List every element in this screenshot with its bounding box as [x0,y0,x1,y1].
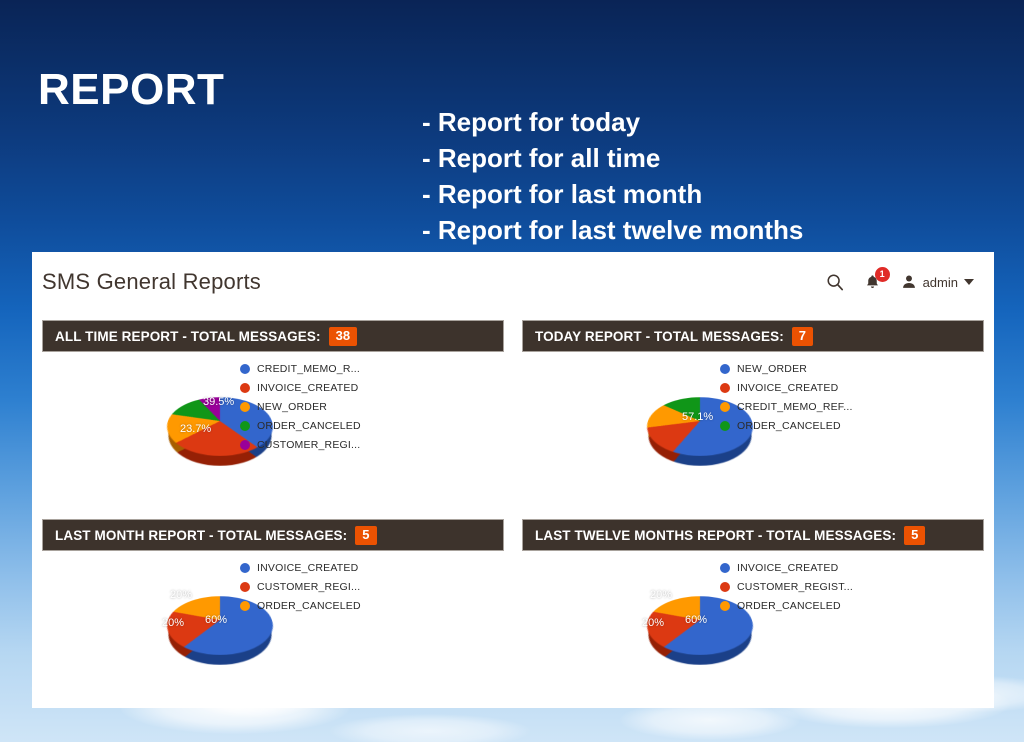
legend-label: CUSTOMER_REGI... [257,439,360,451]
legend-item[interactable]: CREDIT_MEMO_REF... [720,401,853,413]
notification-badge: 1 [875,267,890,282]
legend-label: CUSTOMER_REGI... [257,581,360,593]
legend-color-dot [720,563,730,573]
search-icon [826,273,844,291]
report-grid: ALL TIME REPORT - TOTAL MESSAGES: 38 39.… [32,312,994,706]
legend-label: ORDER_CANCELED [257,600,361,612]
legend-label: ORDER_CANCELED [737,420,841,432]
chart-legend: NEW_ORDER INVOICE_CREATED CREDIT_MEMO_RE… [720,363,853,432]
chart-legend: INVOICE_CREATED CUSTOMER_REGIST... ORDER… [720,562,853,612]
user-menu[interactable]: admin [901,274,974,290]
legend-item[interactable]: CUSTOMER_REGI... [240,581,361,593]
report-card-header: ALL TIME REPORT - TOTAL MESSAGES: 38 [42,320,504,352]
legend-color-dot [240,364,250,374]
status-badge: 5 [904,526,925,545]
report-card-today: TODAY REPORT - TOTAL MESSAGES: 7 57.1% N… [522,320,984,507]
legend-label: CREDIT_MEMO_R... [257,363,360,375]
pie-chart-all-time: 39.5% 23.7% CREDIT_MEMO_R... INVOICE_CRE… [50,355,350,505]
legend-color-dot [720,383,730,393]
legend-item[interactable]: NEW_ORDER [720,363,853,375]
legend-item[interactable]: ORDER_CANCELED [240,600,361,612]
slide-bullet-item: - Report for last twelve months [422,212,803,248]
status-badge: 5 [355,526,376,545]
legend-label: INVOICE_CREATED [257,562,358,574]
legend-label: CUSTOMER_REGIST... [737,581,853,593]
report-card-header: LAST TWELVE MONTHS REPORT - TOTAL MESSAG… [522,519,984,551]
pie-slice-label: 60% [685,614,707,626]
status-badge: 38 [329,327,358,346]
legend-item[interactable]: ORDER_CANCELED [720,420,853,432]
legend-color-dot [720,421,730,431]
legend-label: INVOICE_CREATED [737,562,838,574]
legend-label: ORDER_CANCELED [257,420,361,432]
legend-color-dot [240,440,250,450]
legend-item[interactable]: CUSTOMER_REGI... [240,439,361,451]
app-header: SMS General Reports 1 [32,252,994,312]
legend-color-dot [240,563,250,573]
pie-chart-today: 57.1% NEW_ORDER INVOICE_CREATED CRED [530,355,830,505]
pie-slice-label: 20% [650,589,672,601]
legend-color-dot [720,402,730,412]
legend-item[interactable]: INVOICE_CREATED [720,562,853,574]
chart-legend: CREDIT_MEMO_R... INVOICE_CREATED NEW_ORD… [240,363,361,451]
legend-item[interactable]: NEW_ORDER [240,401,361,413]
legend-item[interactable]: ORDER_CANCELED [720,600,853,612]
report-card-title: ALL TIME REPORT - TOTAL MESSAGES: [55,329,321,344]
slide-bullet-item: - Report for all time [422,140,803,176]
legend-item[interactable]: INVOICE_CREATED [240,562,361,574]
slide-bullet-item: - Report for last month [422,176,803,212]
slide-title: REPORT [38,68,224,112]
report-card-header: TODAY REPORT - TOTAL MESSAGES: 7 [522,320,984,352]
legend-color-dot [720,582,730,592]
report-card-title: LAST TWELVE MONTHS REPORT - TOTAL MESSAG… [535,528,896,543]
header-toolbar: 1 admin [826,273,974,291]
legend-color-dot [240,383,250,393]
pie-slice-label: 39.5% [203,396,234,408]
page-title: SMS General Reports [42,269,261,295]
pie-slice-label: 60% [205,614,227,626]
legend-label: ORDER_CANCELED [737,600,841,612]
legend-color-dot [240,601,250,611]
pie-slice-label: 23.7% [180,423,211,435]
user-icon [901,274,917,290]
legend-label: CREDIT_MEMO_REF... [737,401,853,413]
legend-label: NEW_ORDER [257,401,327,413]
legend-color-dot [720,601,730,611]
legend-color-dot [720,364,730,374]
cloud [330,714,530,742]
report-card-body: 57.1% NEW_ORDER INVOICE_CREATED CRED [522,352,984,507]
notifications-button[interactable]: 1 [864,273,881,291]
report-card-title: LAST MONTH REPORT - TOTAL MESSAGES: [55,528,347,543]
legend-label: INVOICE_CREATED [257,382,358,394]
report-card-last-month: LAST MONTH REPORT - TOTAL MESSAGES: 5 60… [42,519,504,706]
user-name-label: admin [923,275,958,290]
pie-chart-last-twelve-months: 60% 20% 20% INVOICE_CREATED CUSTOMER_REG… [530,554,830,704]
legend-label: INVOICE_CREATED [737,382,838,394]
report-card-body: 60% 20% 20% INVOICE_CREATED CUSTOMER_REG… [522,551,984,706]
legend-item[interactable]: CUSTOMER_REGIST... [720,581,853,593]
pie-slice-label: 57.1% [682,411,713,423]
report-card-all-time: ALL TIME REPORT - TOTAL MESSAGES: 38 39.… [42,320,504,507]
legend-color-dot [240,582,250,592]
report-card-last-twelve-months: LAST TWELVE MONTHS REPORT - TOTAL MESSAG… [522,519,984,706]
chevron-down-icon [964,279,974,285]
pie-slice-label: 20% [642,617,664,629]
legend-color-dot [240,421,250,431]
legend-color-dot [240,402,250,412]
report-card-body: 60% 20% 20% INVOICE_CREATED CUSTOMER_REG… [42,551,504,706]
search-button[interactable] [826,273,844,291]
legend-item[interactable]: ORDER_CANCELED [240,420,361,432]
slide-bullet-list: - Report for today - Report for all time… [422,104,803,248]
report-card-title: TODAY REPORT - TOTAL MESSAGES: [535,329,784,344]
slide-bullet-item: - Report for today [422,104,803,140]
legend-item[interactable]: INVOICE_CREATED [720,382,853,394]
pie-slice-label: 20% [162,617,184,629]
legend-item[interactable]: CREDIT_MEMO_R... [240,363,361,375]
app-window: SMS General Reports 1 [32,252,994,708]
legend-item[interactable]: INVOICE_CREATED [240,382,361,394]
report-card-body: 39.5% 23.7% CREDIT_MEMO_R... INVOICE_CRE… [42,352,504,507]
pie-slice-label: 20% [170,589,192,601]
chart-legend: INVOICE_CREATED CUSTOMER_REGI... ORDER_C… [240,562,361,612]
pie-chart-last-month: 60% 20% 20% INVOICE_CREATED CUSTOMER_REG… [50,554,350,704]
legend-label: NEW_ORDER [737,363,807,375]
status-badge: 7 [792,327,813,346]
report-card-header: LAST MONTH REPORT - TOTAL MESSAGES: 5 [42,519,504,551]
